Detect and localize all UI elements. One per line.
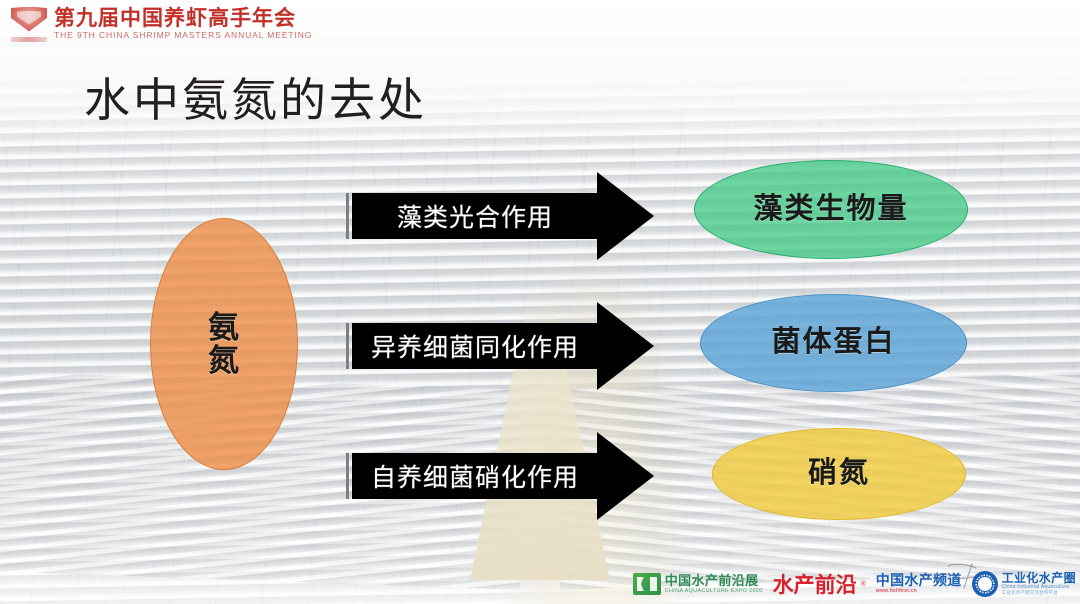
event-header-texts: 第九届中国养虾高手年会 THE 9TH CHINA SHRIMP MASTERS… xyxy=(54,7,312,41)
trademark-symbol: ® xyxy=(861,581,866,588)
arrow-autotrophic-nitrification: 自养细菌硝化作用 xyxy=(346,453,654,499)
fishery-channel-name-cn: 中国水产频道 xyxy=(876,573,962,587)
event-title-en: THE 9TH CHINA SHRIMP MASTERS ANNUAL MEET… xyxy=(54,30,312,41)
gear-icon xyxy=(972,571,998,597)
node-label-line-1: 氨 xyxy=(208,311,240,344)
node-microbial-protein: 菌体蛋白 xyxy=(700,294,967,392)
cafe-name-cn: 中国水产前沿展 xyxy=(665,574,763,587)
event-title-cn: 第九届中国养虾高手年会 xyxy=(54,7,312,30)
industrial-aqua-tagline: 工业化水产圈交流合作平台 xyxy=(1002,591,1076,596)
node-nitrate-nitrogen: 硝氮 xyxy=(712,428,966,520)
cafe-name-en: CHINA AQUACULTURE EXPO 2020 xyxy=(665,589,763,595)
arrow-body: 自养细菌硝化作用 xyxy=(352,453,598,499)
node-algal-biomass: 藻类生物量 xyxy=(694,160,968,259)
arrow-label-algal-photosynthesis: 藻类光合作用 xyxy=(397,198,553,234)
node-ammonia-nitrogen: 氨 氮 xyxy=(150,218,298,470)
node-microbial-protein-label: 菌体蛋白 xyxy=(771,327,895,358)
shrimp-emblem-icon xyxy=(6,4,52,44)
arrow-body: 异养细菌同化作用 xyxy=(352,323,598,369)
presentation-slide: 第九届中国养虾高手年会 THE 9TH CHINA SHRIMP MASTERS… xyxy=(0,0,1080,604)
logo-shuichan-qianyan: 水产前沿 ® xyxy=(773,569,866,599)
arrow-body: 藻类光合作用 xyxy=(352,193,598,239)
node-nitrate-nitrogen-label: 硝氮 xyxy=(808,458,870,489)
page-title: 水中氨氮的去处 xyxy=(84,64,427,130)
arrow-label-autotrophic-nitrification: 自养细菌硝化作用 xyxy=(371,458,579,494)
cafe-text-block: 中国水产前沿展 CHINA AQUACULTURE EXPO 2020 xyxy=(665,574,763,595)
fishery-channel-text-block: 中国水产频道 www.fishfirst.cn xyxy=(876,573,962,595)
logo-industrial-aquaculture: 工业化水产圈 China Industrial Aquaculture 工业化水… xyxy=(972,571,1076,597)
node-label-line-2: 氮 xyxy=(208,344,240,377)
footer-logo-strip: 中国水产前沿展 CHINA AQUACULTURE EXPO 2020 水产前沿… xyxy=(633,564,1080,604)
industrial-aqua-text-block: 工业化水产圈 China Industrial Aquaculture 工业化水… xyxy=(1002,572,1076,596)
industrial-aqua-name-cn: 工业化水产圈 xyxy=(1002,572,1076,584)
node-algal-biomass-label: 藻类生物量 xyxy=(753,194,908,225)
logo-china-aquaculture-expo: 中国水产前沿展 CHINA AQUACULTURE EXPO 2020 xyxy=(633,573,763,595)
fishery-channel-url: www.fishfirst.cn xyxy=(876,589,962,595)
cafe-mark-icon xyxy=(633,573,661,595)
arrow-algal-photosynthesis: 藻类光合作用 xyxy=(346,193,654,239)
arrow-label-heterotrophic-assimilation: 异养细菌同化作用 xyxy=(371,328,579,364)
logo-underbar xyxy=(11,37,47,42)
shield-shape-icon xyxy=(11,7,47,32)
arrow-heterotrophic-assimilation: 异养细菌同化作用 xyxy=(346,323,654,369)
logo-china-fishery-channel: 中国水产频道 www.fishfirst.cn xyxy=(876,573,962,595)
shuichan-qianyan-name-cn: 水产前沿 xyxy=(773,569,857,599)
node-ammonia-nitrogen-label: 氨 氮 xyxy=(208,311,240,378)
event-header-band: 第九届中国养虾高手年会 THE 9TH CHINA SHRIMP MASTERS… xyxy=(0,0,1080,47)
